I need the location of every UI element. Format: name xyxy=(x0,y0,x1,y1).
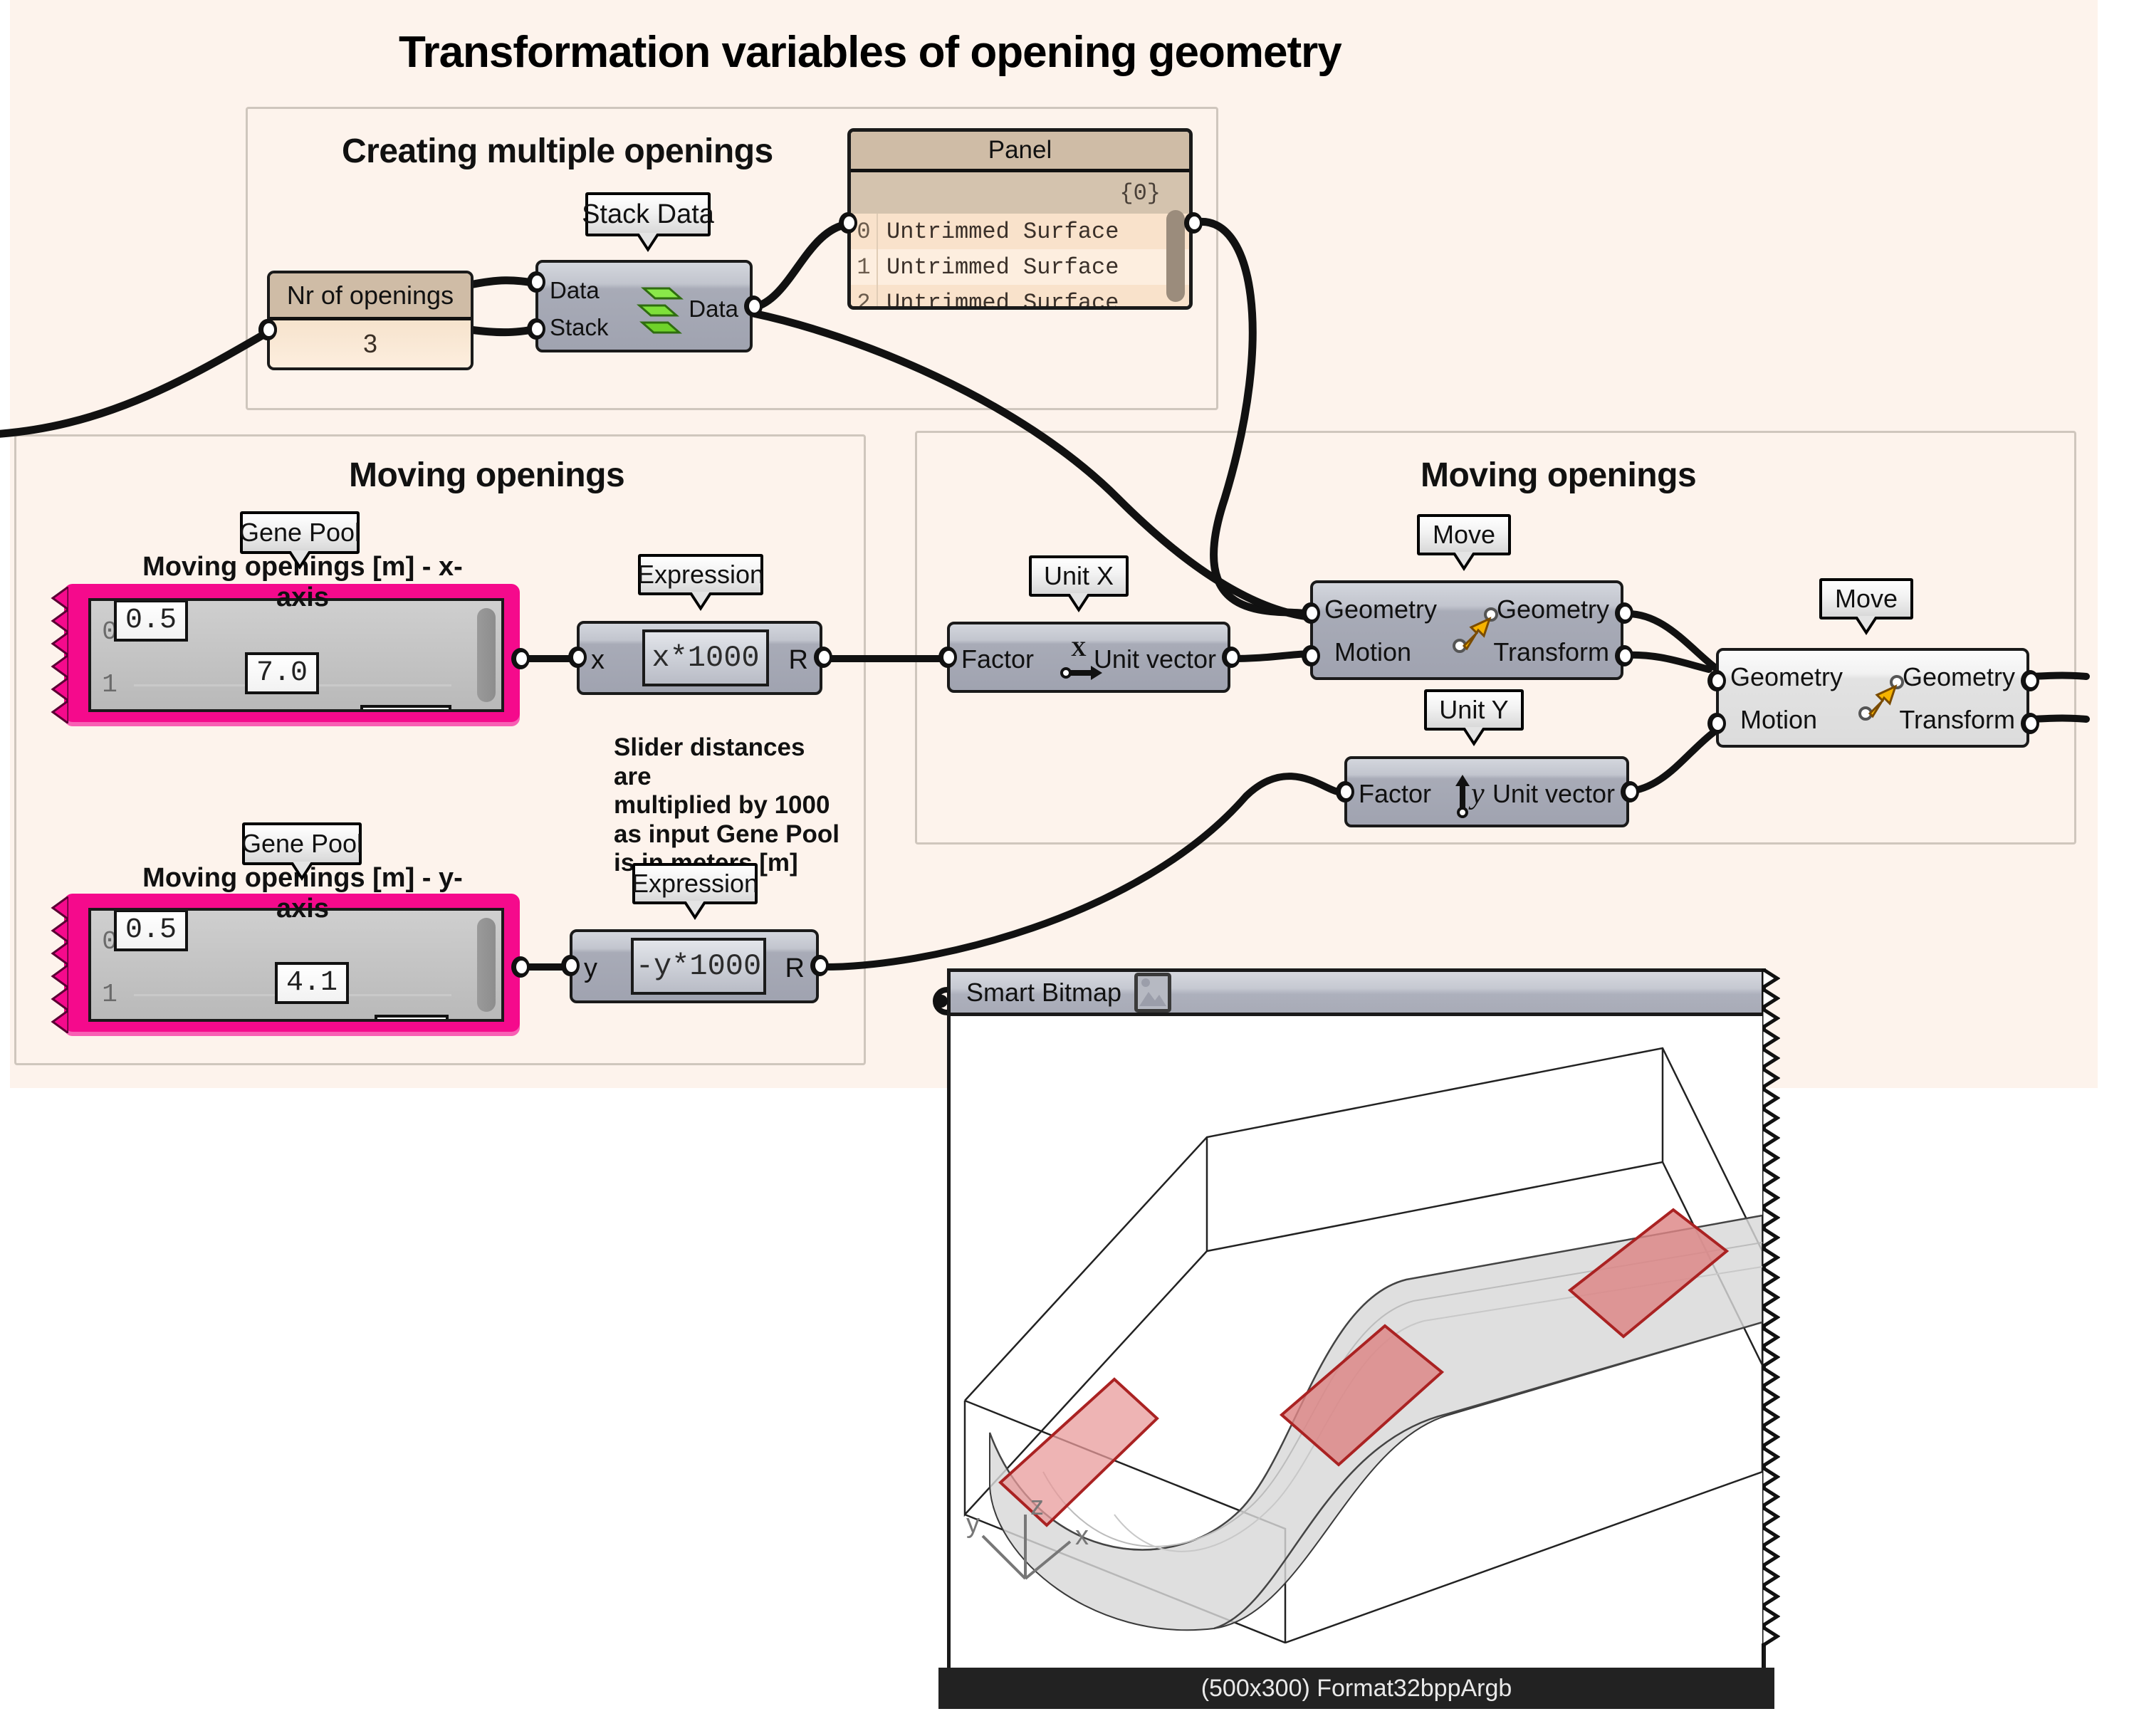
gene-pool-row[interactable]: 0 0.5 xyxy=(91,605,501,658)
page-title: Transformation variables of opening geom… xyxy=(399,27,1341,78)
gene-pool-row-value[interactable]: 0.5 xyxy=(114,600,188,642)
group-title-moving-openings-left: Moving openings xyxy=(349,456,624,495)
gene-pool-x-out-grip[interactable] xyxy=(511,648,530,669)
panel-divider xyxy=(877,214,878,249)
tag-beak xyxy=(1067,594,1091,612)
expression-y-field[interactable]: -y*1000 xyxy=(631,938,766,995)
annotation-note: Slider distances are multiplied by 1000 … xyxy=(614,733,849,878)
param-out-transform[interactable]: Transform xyxy=(1899,705,2015,735)
move-2-in-grip-geometry[interactable] xyxy=(1707,670,1726,691)
gene-pool-row-index: 1 xyxy=(91,980,128,1009)
panel-row: 0 Untrimmed Surface xyxy=(851,214,1189,249)
component-move-2[interactable]: Geometry Motion Geometry Transform xyxy=(1716,648,2029,748)
param-in-motion[interactable]: Motion xyxy=(1740,705,1817,735)
panel-divider xyxy=(877,249,878,285)
param-out-unit-vector[interactable]: Unit vector xyxy=(1492,779,1615,809)
gene-pool-x-inner[interactable]: 0 0.5 1 7.0 2 13.5 xyxy=(88,598,504,712)
tag-gene-pool-x: Gene Pool xyxy=(240,511,360,554)
panel-row-text: Untrimmed Surface xyxy=(886,219,1119,245)
axis-label-z: z xyxy=(1030,1491,1044,1521)
group-title-creating-multiple-openings: Creating multiple openings xyxy=(342,132,773,171)
move-1-out-grip-geometry[interactable] xyxy=(1615,602,1633,624)
unit-x-out-grip[interactable] xyxy=(1222,647,1240,668)
tag-expression-x-label: Expression xyxy=(637,560,764,590)
panel-in-grip[interactable] xyxy=(839,212,857,234)
unit-x-in-grip[interactable] xyxy=(938,647,957,668)
smart-bitmap-input-grip[interactable] xyxy=(923,987,951,1015)
move-2-out-grip-transform[interactable] xyxy=(2021,713,2039,734)
tag-beak xyxy=(1462,728,1486,746)
param-in-geometry[interactable]: Geometry xyxy=(1324,595,1437,624)
param-out-r[interactable]: R xyxy=(789,645,808,676)
tag-beak xyxy=(1854,617,1878,635)
gene-pool-row[interactable]: 2 6.5 xyxy=(91,1020,501,1022)
tag-gene-pool-y-label: Gene Pool xyxy=(241,829,362,859)
move-1-out-grip-transform[interactable] xyxy=(1615,645,1633,666)
param-out-geometry[interactable]: Geometry xyxy=(1497,595,1609,624)
tag-unit-y: Unit Y xyxy=(1424,689,1524,731)
param-out-geometry[interactable]: Geometry xyxy=(1903,662,2015,692)
tag-move-2-label: Move xyxy=(1835,584,1898,614)
expression-y-in-grip[interactable] xyxy=(561,955,580,976)
panel-row-index: 1 xyxy=(851,254,877,281)
smart-bitmap-titlebar[interactable]: Smart Bitmap xyxy=(951,972,1762,1016)
smart-bitmap-title: Smart Bitmap xyxy=(966,978,1121,1008)
expression-x-field[interactable]: x*1000 xyxy=(642,629,769,686)
gene-pool-row-value[interactable]: 13.5 xyxy=(360,705,451,712)
expression-x-out-grip[interactable] xyxy=(814,647,832,668)
gene-pool-row-value[interactable]: 6.5 xyxy=(375,1015,449,1022)
number-slider-nr-of-openings[interactable]: Nr of openings 3 xyxy=(267,271,474,370)
panel-scrollbar[interactable] xyxy=(1166,210,1185,302)
expression-y-out-grip[interactable] xyxy=(810,955,829,976)
gene-pool-row-value[interactable]: 0.5 xyxy=(114,909,188,951)
smart-bitmap-viewport[interactable]: y z x xyxy=(951,1016,1762,1643)
slider-left-grip[interactable] xyxy=(258,319,277,340)
component-stack-data[interactable]: Data Stack Data xyxy=(535,260,753,352)
param-in-x[interactable]: x xyxy=(591,645,605,676)
smart-bitmap-zigzag-edge xyxy=(1762,968,1780,1688)
tag-unit-x: Unit X xyxy=(1029,555,1129,597)
move-2-out-grip-geometry[interactable] xyxy=(2021,670,2039,691)
tag-expression-y: Expression xyxy=(632,863,758,904)
param-out-transform[interactable]: Transform xyxy=(1493,637,1609,667)
tag-move-1: Move xyxy=(1417,514,1511,555)
axis-label-x: x xyxy=(1075,1521,1089,1551)
expression-x-in-grip[interactable] xyxy=(568,647,587,668)
tag-unit-x-label: Unit X xyxy=(1044,561,1114,591)
gene-pool-x-scrollbar[interactable] xyxy=(477,608,496,702)
viewport-3d-scene: y z x xyxy=(951,1016,1762,1643)
slider-label: Nr of openings xyxy=(270,273,471,320)
panel-row-index: 2 xyxy=(851,290,877,310)
panel-row: 1 Untrimmed Surface xyxy=(851,249,1189,285)
tag-move-1-label: Move xyxy=(1433,520,1495,550)
tag-stack-data-label: Stack Data xyxy=(582,199,714,230)
gene-pool-x-zigzag xyxy=(47,587,68,723)
tag-beak xyxy=(689,592,713,611)
stack-data-in-grip-data[interactable] xyxy=(527,271,545,293)
group-title-moving-openings-right: Moving openings xyxy=(1421,456,1696,495)
param-in-stack[interactable]: Stack xyxy=(550,314,609,341)
tag-move-2: Move xyxy=(1819,578,1913,619)
panel-title: Panel xyxy=(851,132,1189,172)
unit-y-icon: y xyxy=(1451,769,1497,819)
svg-text:X: X xyxy=(1071,637,1087,661)
tag-unit-y-label: Unit Y xyxy=(1439,695,1508,725)
panel-component[interactable]: Panel {0} 0 Untrimmed Surface 1 Untrimme… xyxy=(847,128,1193,310)
grasshopper-canvas: Transformation variables of opening geom… xyxy=(0,0,2129,1736)
opening-rect xyxy=(1000,1379,1157,1525)
param-out-r[interactable]: R xyxy=(785,953,805,984)
panel-divider xyxy=(877,285,878,310)
param-in-geometry[interactable]: Geometry xyxy=(1730,662,1843,692)
tag-stack-data: Stack Data xyxy=(585,192,711,236)
gene-pool-row[interactable]: 1 7.0 xyxy=(91,658,501,711)
panel-row-text: Untrimmed Surface xyxy=(886,254,1119,281)
component-move-1[interactable]: Geometry Motion Geometry Transform xyxy=(1310,580,1623,680)
smart-bitmap-status-bar: (500x300) Format32bppArgb xyxy=(938,1668,1774,1709)
tag-expression-x: Expression xyxy=(638,554,763,595)
stack-data-in-grip-stack[interactable] xyxy=(527,318,545,340)
param-out-unit-vector[interactable]: Unit vector xyxy=(1094,644,1216,674)
stack-icon xyxy=(625,278,686,341)
unit-x-icon: X xyxy=(1058,636,1104,683)
slider-value[interactable]: 3 xyxy=(270,320,471,367)
panel-out-grip[interactable] xyxy=(1184,212,1203,234)
bitmap-image-icon[interactable] xyxy=(1134,973,1171,1013)
tag-beak xyxy=(636,234,660,252)
gene-pool-y-out-grip[interactable] xyxy=(511,956,530,978)
gene-pool-y-zigzag xyxy=(47,896,68,1033)
gene-pool-row[interactable]: 2 13.5 xyxy=(91,711,501,712)
param-in-motion[interactable]: Motion xyxy=(1334,637,1411,667)
component-expression-x[interactable]: x R x*1000 xyxy=(577,621,822,695)
tag-beak xyxy=(683,901,707,920)
tag-beak xyxy=(1452,553,1476,571)
tag-beak xyxy=(290,862,314,881)
component-unit-x[interactable]: Factor Unit vector X xyxy=(947,622,1230,693)
panel-row: 2 Untrimmed Surface xyxy=(851,285,1189,310)
move-2-in-grip-motion[interactable] xyxy=(1707,713,1726,734)
component-expression-y[interactable]: y R -y*1000 xyxy=(570,929,819,1003)
move-arrow-icon xyxy=(1856,669,1907,726)
gene-pool-row-index: 1 xyxy=(91,670,128,699)
component-unit-y[interactable]: Factor Unit vector y xyxy=(1344,756,1629,827)
param-in-data[interactable]: Data xyxy=(550,277,600,304)
gene-pool-row-value[interactable]: 7.0 xyxy=(245,652,319,694)
param-in-factor[interactable]: Factor xyxy=(1359,779,1431,809)
unit-y-out-grip[interactable] xyxy=(1621,781,1639,802)
axis-label-y: y xyxy=(966,1509,980,1539)
panel-row-text: Untrimmed Surface xyxy=(886,290,1119,310)
tag-expression-y-label: Expression xyxy=(632,869,758,899)
gene-pool-y-inner[interactable]: 0 0.5 1 4.1 2 6.5 xyxy=(88,908,504,1022)
move-1-in-grip-motion[interactable] xyxy=(1302,645,1320,666)
move-1-in-grip-geometry[interactable] xyxy=(1302,602,1320,624)
gene-pool-y-scrollbar[interactable] xyxy=(477,918,496,1012)
move-arrow-icon xyxy=(1450,602,1501,659)
param-in-y[interactable]: y xyxy=(584,953,597,984)
panel-path: {0} xyxy=(851,172,1189,214)
tag-beak xyxy=(288,551,312,570)
param-in-factor[interactable]: Factor xyxy=(961,644,1034,674)
smart-bitmap-window[interactable]: Smart Bitmap xyxy=(947,968,1766,1688)
gene-pool-row-value[interactable]: 4.1 xyxy=(275,962,349,1004)
unit-y-in-grip[interactable] xyxy=(1336,781,1354,802)
param-out-data[interactable]: Data xyxy=(689,296,738,323)
gene-pool-row[interactable]: 1 4.1 xyxy=(91,968,501,1020)
svg-text:y: y xyxy=(1468,778,1485,810)
tag-gene-pool-y: Gene Pool xyxy=(242,822,362,865)
stack-data-out-grip[interactable] xyxy=(744,296,763,317)
tag-gene-pool-x-label: Gene Pool xyxy=(239,518,360,548)
